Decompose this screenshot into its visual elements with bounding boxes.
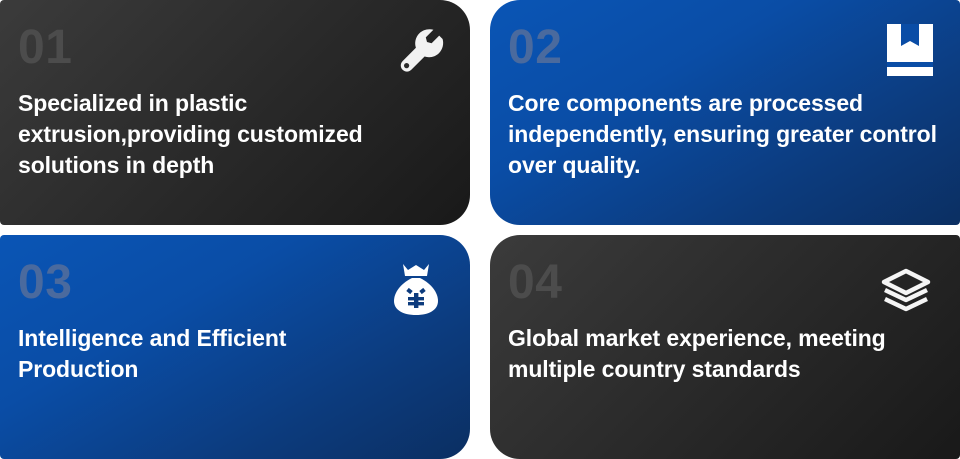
card-number-01: 01 <box>18 24 448 72</box>
feature-card-01[interactable]: 01 Specialized in plastic extrusion,prov… <box>0 0 470 225</box>
card-number-03: 03 <box>18 259 448 307</box>
card-text-04: Global market experience, meeting multip… <box>508 323 888 385</box>
card-text-03: Intelligence and Efficient Production <box>18 323 398 385</box>
card-text-02: Core components are processed independen… <box>508 88 938 180</box>
feature-card-03[interactable]: 03 Intelligence and Efficient Production <box>0 235 470 459</box>
feature-card-04[interactable]: 04 Global market experience, meeting mul… <box>490 235 960 459</box>
card-number-04: 04 <box>508 259 938 307</box>
feature-card-02[interactable]: 02 Core components are processed indepen… <box>490 0 960 225</box>
feature-card-grid: 01 Specialized in plastic extrusion,prov… <box>0 0 960 459</box>
card-text-01: Specialized in plastic extrusion,providi… <box>18 88 448 180</box>
card-number-02: 02 <box>508 24 938 72</box>
